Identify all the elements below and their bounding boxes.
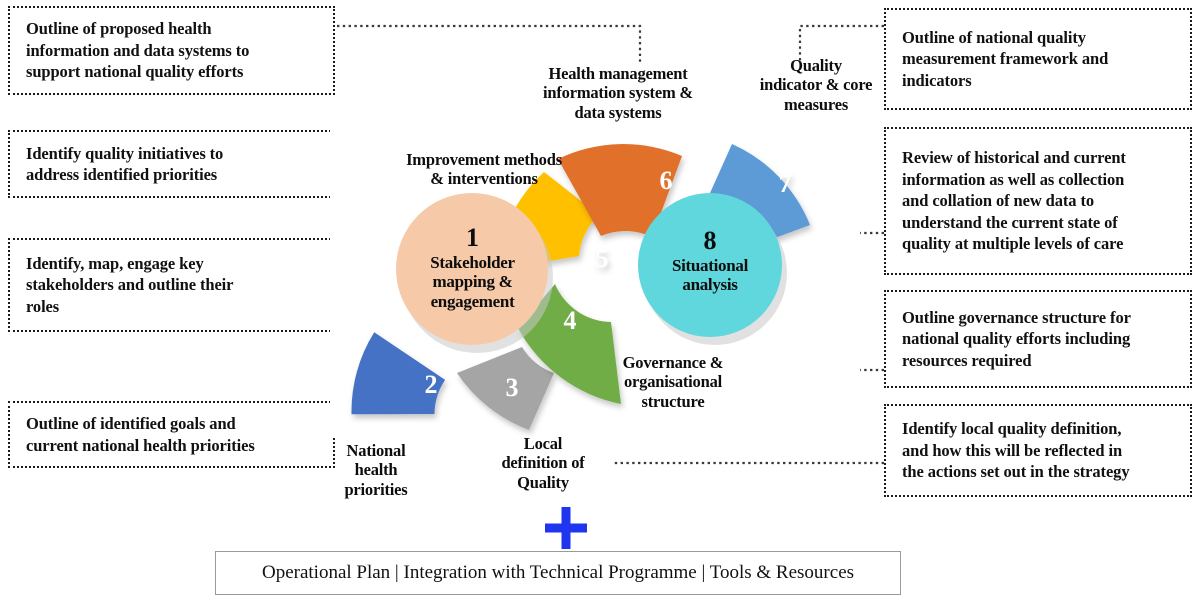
desc-line: indicators	[902, 70, 1108, 91]
description-box-measurement-framework[interactable]: Outline of national quality measurement …	[884, 8, 1192, 110]
description-box-quality-initiatives[interactable]: Identify quality initiatives to address …	[8, 130, 335, 198]
plus-icon	[543, 505, 589, 551]
wheel-number-5: 5	[596, 244, 609, 273]
desc-line: stakeholders and outline their	[26, 274, 233, 295]
desc-line: Review of historical and current	[902, 147, 1126, 168]
description-box-national-goals[interactable]: Outline of identified goals and current …	[8, 401, 335, 468]
seg-line: Improvement methods	[378, 150, 590, 169]
wheel-number-6: 6	[660, 166, 673, 195]
desc-line: the actions set out in the strategy	[902, 461, 1129, 482]
desc-line: Identify quality initiatives to	[26, 143, 223, 164]
description-box-stakeholders[interactable]: Identify, map, engage key stakeholders a…	[8, 238, 335, 332]
bottom-bar-text: Operational Plan | Integration with Tech…	[262, 562, 854, 584]
wheel-number-3: 3	[506, 373, 519, 402]
desc-line: quality at multiple levels of care	[902, 233, 1126, 254]
desc-line: roles	[26, 296, 233, 317]
seg-line: indicator & core	[742, 75, 890, 94]
bottom-bar[interactable]: Operational Plan | Integration with Tech…	[215, 551, 901, 595]
desc-line: national quality efforts including	[902, 328, 1131, 349]
segment-label-3: Local definition of Quality	[482, 434, 604, 492]
desc-line: Outline of proposed health	[26, 18, 249, 39]
seg-line: measures	[742, 95, 890, 114]
desc-line: understand the current state of	[902, 212, 1126, 233]
segment-label-2: National health priorities	[330, 441, 422, 499]
wheel-number-4: 4	[564, 306, 577, 335]
seg-line: Local	[482, 434, 604, 453]
seg-line: Governance &	[598, 353, 748, 372]
seg-line: data systems	[498, 103, 738, 122]
wheel-number-2: 2	[425, 370, 438, 399]
desc-line: address identified priorities	[26, 164, 223, 185]
description-box-local-quality[interactable]: Identify local quality definition, and h…	[884, 404, 1192, 497]
description-box-governance[interactable]: Outline governance structure for nationa…	[884, 290, 1192, 388]
desc-line: Outline of national quality	[902, 27, 1108, 48]
description-box-situational-review[interactable]: Review of historical and current informa…	[884, 127, 1192, 275]
seg-line: & interventions	[378, 169, 590, 188]
seg-line: Health management	[498, 64, 738, 83]
desc-line: information as well as collection	[902, 169, 1126, 190]
desc-line: measurement framework and	[902, 48, 1108, 69]
desc-line: Identify local quality definition,	[902, 418, 1129, 439]
seg-line: definition of	[482, 453, 604, 472]
desc-line: and how this will be reflected in	[902, 440, 1129, 461]
segment-label-5: Improvement methods & interventions	[378, 150, 590, 189]
desc-line: Outline of identified goals and	[26, 413, 255, 434]
desc-line: support national quality efforts	[26, 61, 249, 82]
seg-line: Quality	[742, 56, 890, 75]
desc-line: information and data systems to	[26, 40, 249, 61]
desc-line: current national health priorities	[26, 435, 255, 456]
segment-label-7: Quality indicator & core measures	[742, 56, 890, 114]
seg-line: organisational	[598, 372, 748, 391]
desc-line: and collation of new data to	[902, 190, 1126, 211]
segment-label-6: Health management information system & d…	[498, 64, 738, 122]
seg-line: Quality	[482, 473, 604, 492]
diagram-canvas: Outline of proposed health information a…	[0, 0, 1200, 604]
seg-line: structure	[598, 392, 748, 411]
seg-line: information system &	[498, 83, 738, 102]
seg-line: National	[330, 441, 422, 460]
desc-line: resources required	[902, 350, 1131, 371]
description-box-health-info-systems[interactable]: Outline of proposed health information a…	[8, 6, 335, 95]
seg-line: health	[330, 460, 422, 479]
desc-line: Identify, map, engage key	[26, 253, 233, 274]
desc-line: Outline governance structure for	[902, 307, 1131, 328]
segment-label-4: Governance & organisational structure	[598, 353, 748, 411]
wheel-number-7: 7	[779, 169, 792, 198]
seg-line: priorities	[330, 480, 422, 499]
